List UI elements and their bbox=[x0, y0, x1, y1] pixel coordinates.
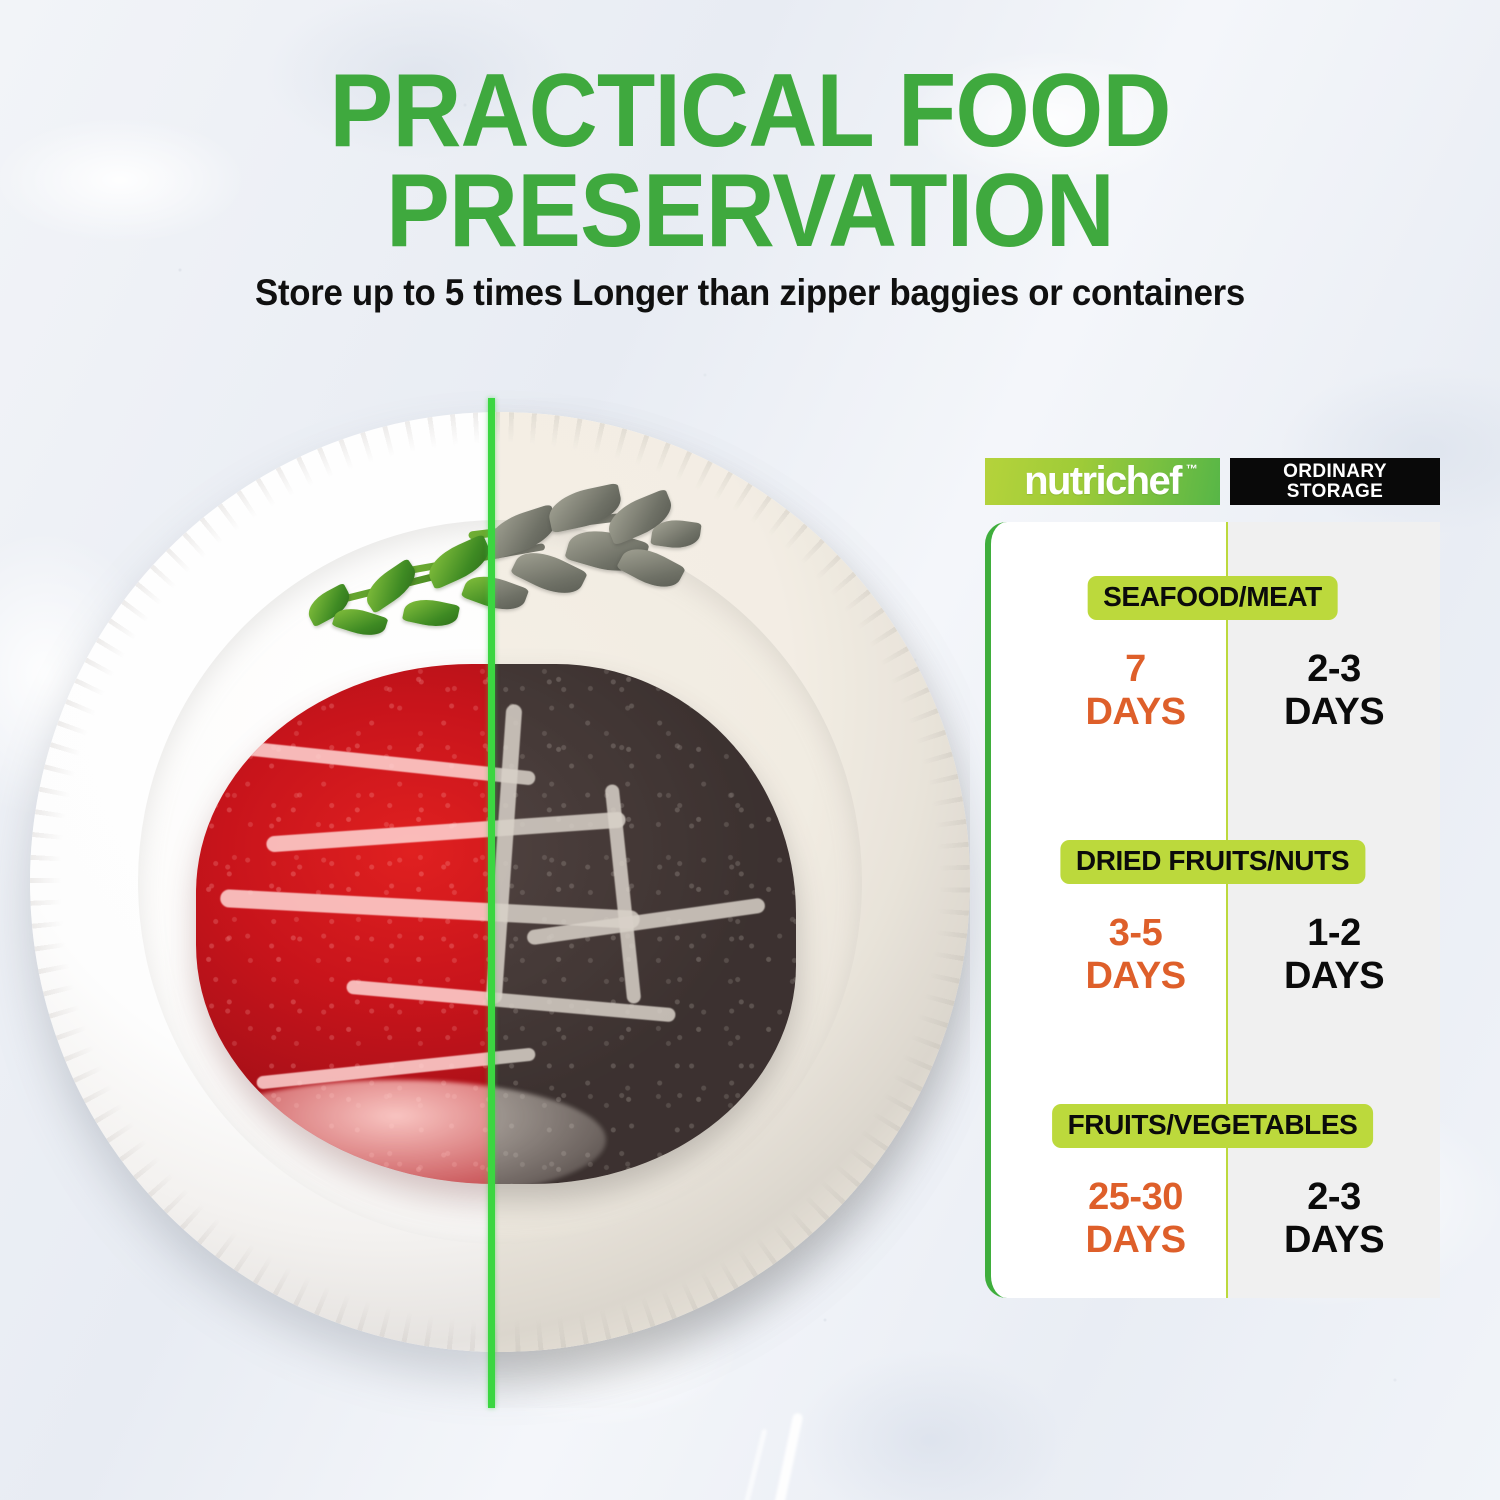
ordinary-value-cell: 1-2 DAYS bbox=[1228, 912, 1440, 997]
category-pill: FRUITS/VEGETABLES bbox=[1052, 1104, 1374, 1148]
ordinary-value-cell: 2-3 DAYS bbox=[1228, 1176, 1440, 1261]
nutrichef-unit: DAYS bbox=[1043, 691, 1228, 734]
nutrichef-value: 7 bbox=[1043, 648, 1228, 691]
nutrichef-value-cell: 3-5 DAYS bbox=[985, 912, 1228, 997]
category-pill: SEAFOOD/MEAT bbox=[1087, 576, 1338, 620]
ordinary-value: 2-3 bbox=[1228, 648, 1440, 691]
ordinary-unit: DAYS bbox=[1228, 955, 1440, 998]
page-title: PRACTICAL FOOD PRESERVATION bbox=[60, 62, 1440, 262]
category-pill: DRIED FRUITS/NUTS bbox=[1060, 840, 1365, 884]
comparison-header-row: nutrichef ™ ORDINARY STORAGE bbox=[985, 458, 1440, 505]
herb-garnish bbox=[300, 460, 700, 680]
nutrichef-value: 3-5 bbox=[1043, 912, 1228, 955]
ordinary-value: 2-3 bbox=[1228, 1176, 1440, 1219]
page-subtitle: Store up to 5 times Longer than zipper b… bbox=[45, 272, 1455, 314]
ordinary-storage-line-1: ORDINARY bbox=[1283, 462, 1387, 482]
nutrichef-unit: DAYS bbox=[1043, 955, 1228, 998]
ordinary-storage-header: ORDINARY STORAGE bbox=[1230, 458, 1440, 505]
comparison-rows: SEAFOOD/MEAT 7 DAYS 2-3 DAYS DRIED FRUIT… bbox=[985, 522, 1440, 1298]
nutrichef-value: 25-30 bbox=[1043, 1176, 1228, 1219]
infographic-canvas: PRACTICAL FOOD PRESERVATION Store up to … bbox=[0, 0, 1500, 1500]
steak bbox=[196, 664, 796, 1184]
ordinary-value-cell: 2-3 DAYS bbox=[1228, 648, 1440, 733]
nutrichef-logo: nutrichef ™ bbox=[1024, 461, 1181, 501]
trademark-icon: ™ bbox=[1186, 463, 1198, 475]
nutrichef-value-cell: 25-30 DAYS bbox=[985, 1176, 1228, 1261]
ordinary-value: 1-2 bbox=[1228, 912, 1440, 955]
nutrichef-value-cell: 7 DAYS bbox=[985, 648, 1228, 733]
ordinary-unit: DAYS bbox=[1228, 691, 1440, 734]
ordinary-unit: DAYS bbox=[1228, 1219, 1440, 1262]
fresh-spoiled-divider-line bbox=[488, 398, 495, 1408]
nutrichef-wordmark: nutrichef bbox=[1024, 459, 1181, 503]
brand-header-nutrichef: nutrichef ™ bbox=[985, 458, 1220, 505]
nutrichef-unit: DAYS bbox=[1043, 1219, 1228, 1262]
vacuum-seal-highlight bbox=[770, 1412, 803, 1500]
ordinary-storage-line-2: STORAGE bbox=[1287, 482, 1383, 502]
vacuum-seal-highlight-secondary bbox=[742, 1429, 768, 1500]
storage-comparison-table: nutrichef ™ ORDINARY STORAGE SEAFOOD/MEA… bbox=[985, 458, 1440, 1298]
product-comparison-photo bbox=[10, 398, 970, 1408]
